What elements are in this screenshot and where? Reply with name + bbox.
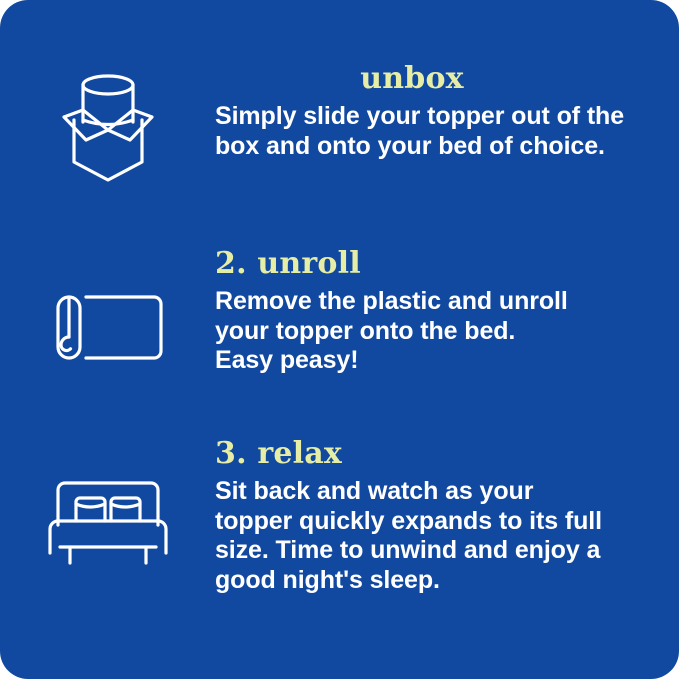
step-heading: unbox	[215, 62, 645, 96]
step-text-container: unbox Simply slide your topper out of th…	[215, 62, 679, 161]
step-body-line: your topper onto the bed.	[215, 317, 645, 347]
step-item-relax: 3. relax Sit back and watch as your topp…	[0, 437, 679, 595]
step-body-line: topper quickly expands to its full	[215, 507, 645, 537]
step-body-line: Easy peasy!	[215, 346, 645, 376]
step-heading: 2. unroll	[215, 247, 645, 281]
step-body: Simply slide your topper out of the box …	[215, 102, 645, 161]
step-body-line: Remove the plastic and unroll	[215, 287, 645, 317]
unroll-mattress-icon	[50, 285, 166, 371]
step-body-line: good night's sleep.	[215, 566, 645, 596]
step-text-container: 2. unroll Remove the plastic and unroll …	[215, 247, 679, 376]
step-text-container: 3. relax Sit back and watch as your topp…	[215, 437, 679, 595]
step-heading: 3. relax	[215, 437, 645, 471]
step-icon-container	[0, 247, 215, 371]
bed-icon	[46, 477, 170, 569]
instructions-panel: unbox Simply slide your topper out of th…	[0, 0, 679, 679]
step-body: Sit back and watch as your topper quickl…	[215, 477, 645, 595]
step-icon-container	[0, 62, 215, 184]
step-body-line: Sit back and watch as your	[215, 477, 645, 507]
step-body: Remove the plastic and unroll your toppe…	[215, 287, 645, 376]
unbox-icon	[56, 70, 160, 184]
step-item-unbox: unbox Simply slide your topper out of th…	[0, 62, 679, 184]
step-icon-container	[0, 437, 215, 569]
step-body-line: Simply slide your topper out of the	[215, 102, 645, 132]
step-item-unroll: 2. unroll Remove the plastic and unroll …	[0, 247, 679, 376]
step-body-line: size. Time to unwind and enjoy a	[215, 536, 645, 566]
step-body-line: box and onto your bed of choice.	[215, 132, 645, 162]
